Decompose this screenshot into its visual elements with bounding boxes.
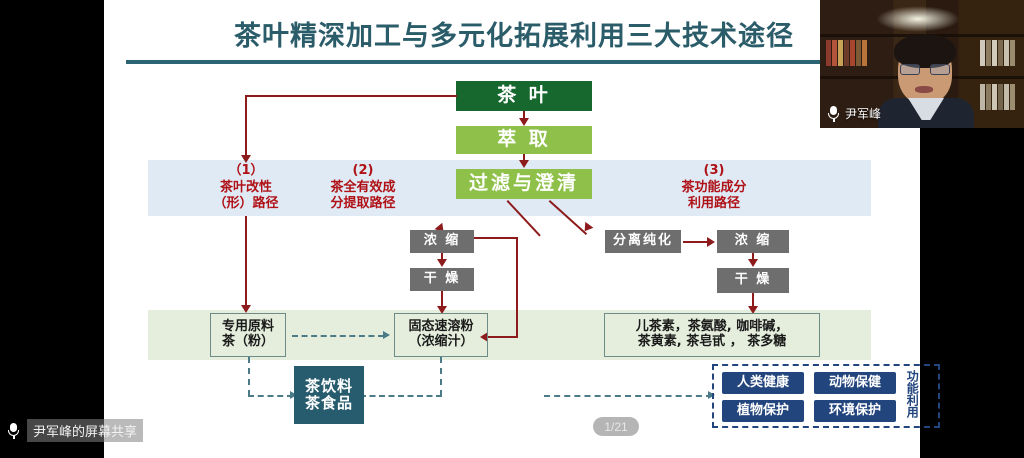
connector-bypass-top (474, 237, 518, 239)
participant-figure (882, 36, 968, 128)
node-dry-right[interactable]: 干 燥 (717, 268, 789, 293)
node-beverage-food[interactable]: 茶饮料 茶食品 (294, 366, 364, 424)
mouth (915, 86, 933, 93)
connector-raw-down (248, 357, 250, 396)
connector-raw-to-powder (292, 335, 384, 337)
connector-tea-left (245, 95, 457, 97)
food-label: 茶食品 (305, 395, 353, 412)
arrowhead-path1-bottom (241, 305, 251, 313)
node-concentrate-right[interactable]: 浓 缩 (717, 230, 789, 253)
node-compounds[interactable]: 儿茶素，茶氨酸, 咖啡碱， 茶黄素, 茶皂甙 ， 茶多糖 (604, 313, 820, 357)
connector-powder-down (440, 357, 442, 396)
connector-path1-down (245, 216, 247, 310)
screen-share-view: 茶叶精深加工与多元化拓展利用三大技术途径 茶 叶 萃 取 过滤与澄清 （1） 茶… (0, 0, 1024, 458)
arrowhead-path1-top (241, 155, 251, 163)
connector-bypass-in (486, 336, 518, 338)
arrowhead-tea-extract (519, 118, 529, 126)
node-plant-protection[interactable]: 植物保护 (722, 400, 804, 422)
path-2-line2: 分提取路径 (330, 196, 395, 211)
node-raw-material-tea[interactable]: 专用原料 茶（粉） (210, 313, 286, 357)
microphone-icon (828, 106, 839, 122)
path-2-line1: 茶全有效成 (330, 180, 395, 195)
path-label-3: (3) 茶功能成分 利用路径 (659, 163, 769, 213)
node-separate-purify[interactable]: 分离纯化 (605, 230, 681, 253)
node-dry-middle[interactable]: 干 燥 (410, 268, 474, 291)
participant-video-tile[interactable]: 尹军峰 (820, 0, 1024, 128)
path-1-line2: （形）路径 (213, 196, 278, 211)
arrowhead-conc-dry-mid (437, 259, 447, 267)
arrowhead-separate-conc (707, 237, 715, 247)
path-1-number: （1） (200, 163, 292, 180)
compounds-line1: 儿茶素，茶氨酸, 咖啡碱， (636, 320, 788, 335)
compounds-line2: 茶黄素, 茶皂甙 ， 茶多糖 (638, 335, 787, 350)
raw-material-line2: 茶（粉） (222, 335, 274, 350)
connector-powder-to-beverage (360, 395, 442, 397)
screen-share-status: 尹军峰的屏幕共享 (8, 419, 143, 442)
arrowhead-raw-to-powder (383, 331, 390, 339)
node-filter-clarify[interactable]: 过滤与澄清 (456, 169, 592, 199)
connector-to-functional (544, 395, 712, 397)
functional-use-group: 人类健康 动物保健 植物保护 环境保护 功能利用 (712, 364, 940, 428)
connector-bypass-down (516, 237, 518, 337)
path-3-number: (3) (659, 163, 769, 180)
shared-slide: 茶叶精深加工与多元化拓展利用三大技术途径 茶 叶 萃 取 过滤与澄清 （1） 茶… (104, 0, 920, 458)
arrowhead-conc-dry-right (748, 259, 758, 267)
path-2-number: (2) (311, 163, 415, 180)
functional-use-vertical-label: 功能利用 (906, 370, 918, 426)
glasses-icon (900, 64, 950, 75)
path-3-line2: 利用路径 (688, 196, 740, 211)
participant-name: 尹军峰 (845, 105, 881, 122)
microphone-icon (8, 423, 19, 439)
connector-separate-conc (683, 241, 709, 243)
instant-powder-line1: 固态速溶粉 (408, 320, 473, 335)
connector-raw-to-beverage (248, 395, 293, 397)
path-1-line1: 茶叶改性 (220, 180, 272, 195)
node-environment-protection[interactable]: 环境保护 (814, 400, 896, 422)
path-label-1: （1） 茶叶改性 （形）路径 (200, 163, 292, 213)
node-animal-health[interactable]: 动物保健 (814, 372, 896, 394)
node-extract[interactable]: 萃 取 (456, 126, 592, 154)
path-label-2: (2) 茶全有效成 分提取路径 (311, 163, 415, 213)
connector-left-down (245, 95, 247, 157)
title-underline (126, 60, 832, 64)
hair (894, 34, 956, 68)
node-concentrate-middle[interactable]: 浓 缩 (410, 230, 474, 253)
instant-powder-line2: （浓缩汁） (408, 335, 473, 350)
ceiling-light-glare (876, 6, 960, 32)
participant-name-label: 尹军峰 (828, 105, 881, 122)
page-title: 茶叶精深加工与多元化拓展利用三大技术途径 (164, 14, 864, 53)
raw-material-line1: 专用原料 (222, 320, 274, 335)
path-3-line1: 茶功能成分 (681, 180, 746, 195)
arrowhead-extract-filter (519, 160, 529, 168)
node-instant-powder[interactable]: 固态速溶粉 （浓缩汁） (394, 313, 488, 357)
node-tea[interactable]: 茶 叶 (456, 81, 592, 111)
share-status-label: 尹军峰的屏幕共享 (27, 419, 143, 442)
beverage-label: 茶饮料 (305, 378, 353, 395)
page-indicator: 1/21 (593, 417, 639, 436)
node-human-health[interactable]: 人类健康 (722, 372, 804, 394)
